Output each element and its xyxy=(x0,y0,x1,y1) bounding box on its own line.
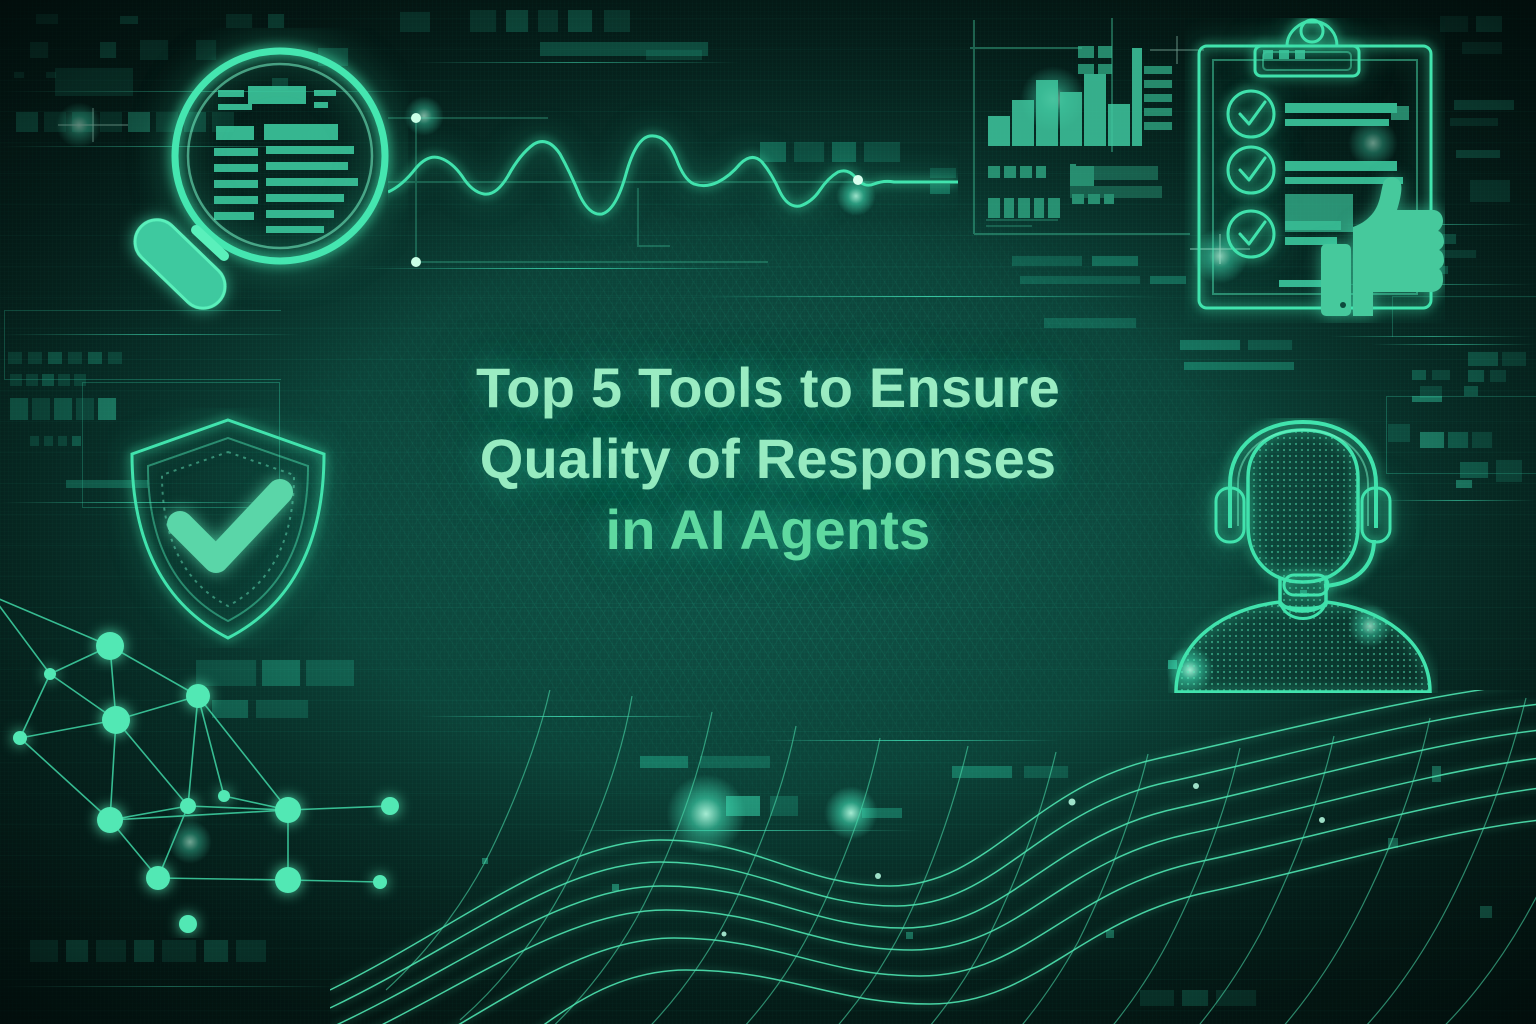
page-title: Top 5 Tools to Ensure Quality of Respons… xyxy=(0,352,1536,565)
bar-chart-graphic xyxy=(962,12,1197,247)
title-line-1: Top 5 Tools to Ensure xyxy=(0,352,1536,423)
node-network-graphic xyxy=(0,588,422,938)
title-line-2: Quality of Responses xyxy=(0,423,1536,494)
title-line-3: in AI Agents xyxy=(0,494,1536,565)
wireframe-wave-mesh-graphic xyxy=(330,690,1536,1024)
clipboard-checklist-icon xyxy=(1185,18,1445,323)
hero-banner: Top 5 Tools to Ensure Quality of Respons… xyxy=(0,0,1536,1024)
magnifying-glass-document-icon xyxy=(118,28,408,328)
oscilloscope-waveform-graphic xyxy=(388,96,958,286)
